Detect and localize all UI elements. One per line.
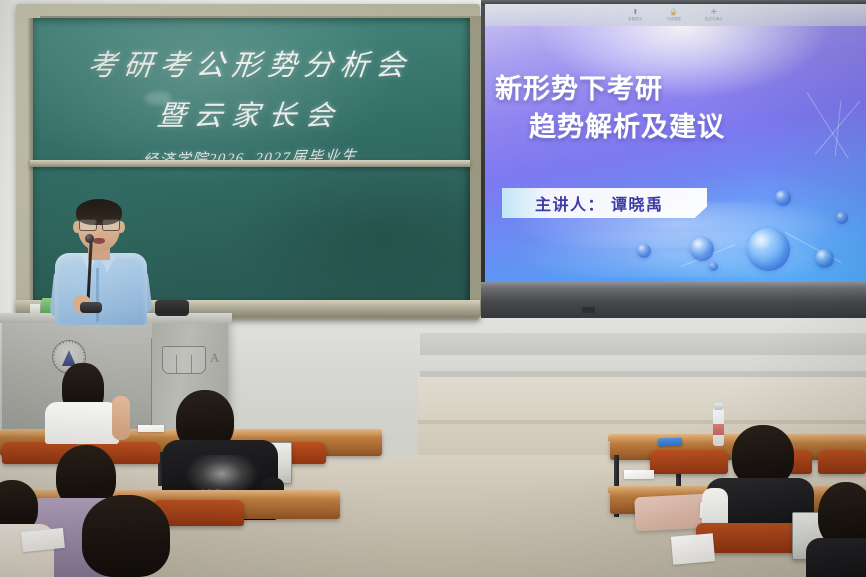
desk-object-dark — [155, 300, 189, 316]
student-torso — [45, 402, 119, 444]
wall-wainscot-seam — [418, 420, 866, 424]
speaker-mouth — [93, 238, 105, 244]
screen-bezel-bottom — [481, 282, 866, 318]
desk-edge — [0, 490, 340, 497]
decor-bubble — [747, 228, 790, 271]
smartphone — [658, 438, 682, 447]
wall-trim-band — [420, 333, 866, 355]
screen-display: ⬆ 查看原文 🔒 只读视图 ✛ 批注与演示 新形势下考研 趋势解析及建议 — [485, 4, 866, 282]
papers — [624, 470, 654, 479]
cursor-icon: ✛ — [711, 9, 717, 16]
trapezoid-logo-icon — [162, 346, 206, 374]
projection-screen: ⬆ 查看原文 🔒 只读视图 ✛ 批注与演示 新形势下考研 趋势解析及建议 — [481, 0, 866, 318]
water-bottle-cap — [714, 403, 723, 410]
glasses-icon — [78, 219, 120, 230]
slide-title: 新形势下考研 趋势解析及建议 — [495, 76, 795, 141]
slide-title-line1: 新形势下考研 — [495, 76, 795, 103]
toolbar-label: 批注与演示 — [705, 17, 723, 21]
decor-wave — [485, 232, 866, 278]
student-head — [82, 495, 170, 577]
toolbar-label: 查看原文 — [628, 17, 642, 21]
upload-icon: ⬆ — [632, 9, 638, 16]
toolbar-button-readonly[interactable]: 🔒 只读视图 — [667, 9, 681, 21]
glasses-bridge — [95, 223, 103, 225]
seat — [650, 450, 728, 474]
lecture-hall-photo: 考研考公形势分析会 暨云家长会 经济学院2026. 2027届毕业生 — [0, 0, 866, 577]
decor-network-line — [807, 92, 849, 159]
papers — [138, 425, 164, 432]
slide-speaker-name: 主讲人： 谭晓禹 — [535, 191, 663, 215]
lectern-edge-mark: A — [210, 350, 224, 370]
student-torso — [806, 538, 866, 577]
toolbar-button-view-original[interactable]: ⬆ 查看原文 — [628, 9, 642, 21]
lock-icon: 🔒 — [669, 9, 678, 16]
speaker-shirt — [55, 253, 147, 325]
decor-bubble — [637, 244, 651, 258]
decor-bubble — [775, 190, 791, 206]
seat — [818, 450, 866, 474]
microphone-icon — [85, 234, 94, 243]
decor-bubble — [836, 212, 848, 224]
chalk-smudge — [145, 92, 171, 105]
slide-speaker-banner: 主讲人： 谭晓禹 — [502, 188, 707, 218]
toolbar-button-annotate[interactable]: ✛ 批注与演示 — [705, 9, 723, 21]
slide-title-line2: 趋势解析及建议 — [529, 114, 795, 141]
student-arm — [112, 396, 130, 440]
blackboard-rail — [30, 160, 470, 167]
decor-bubble — [709, 262, 718, 271]
papers — [671, 533, 715, 565]
water-bottle-label — [713, 424, 724, 435]
decor-bubble — [690, 237, 714, 261]
speaker-shirt-placket — [96, 268, 99, 322]
slide-viewer-toolbar[interactable]: ⬆ 查看原文 🔒 只读视图 ✛ 批注与演示 — [485, 4, 866, 26]
microphone-base — [80, 302, 102, 313]
toolbar-label: 只读视图 — [667, 17, 681, 21]
screen-mount-nub — [582, 307, 595, 313]
decor-bubble — [815, 249, 834, 268]
